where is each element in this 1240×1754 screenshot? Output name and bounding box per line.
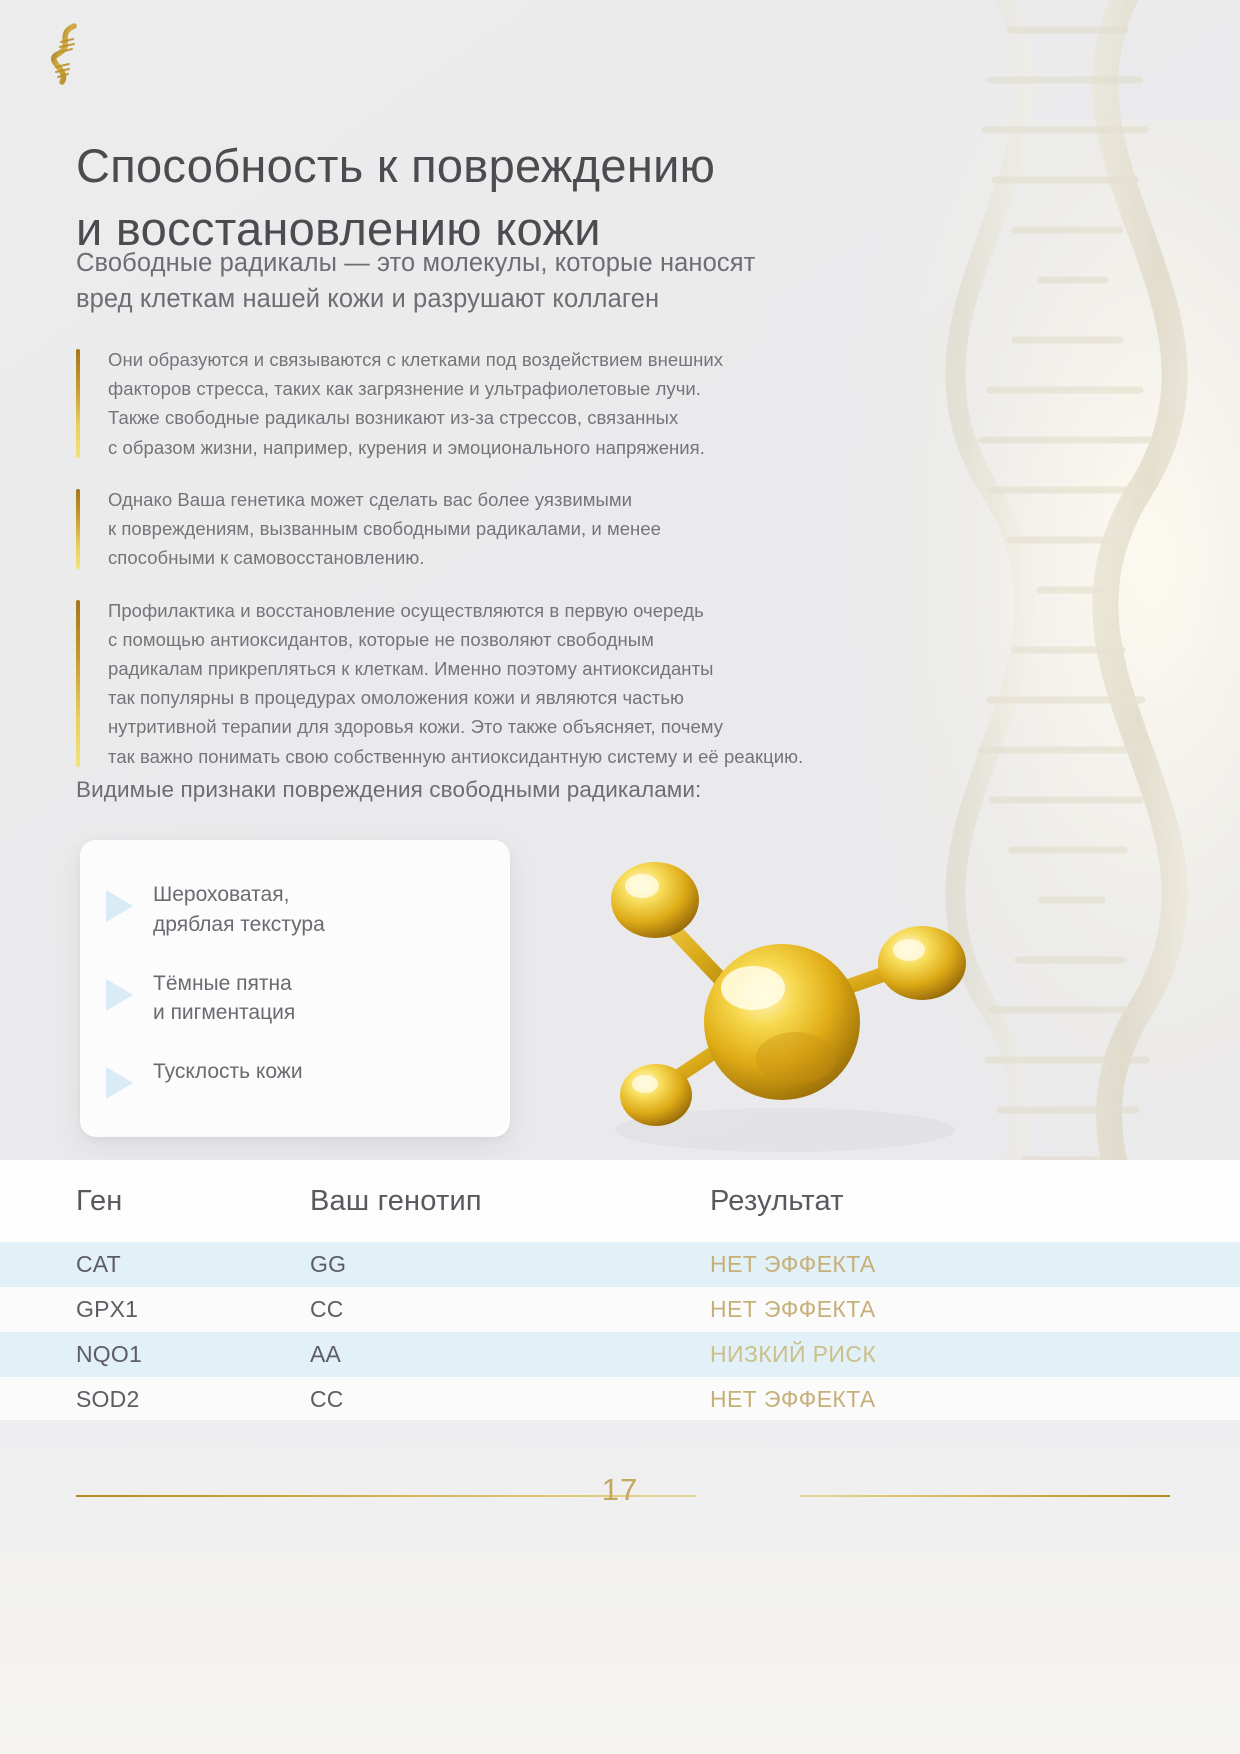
visible-signs-list: Шероховатая, дряблая текстура Тёмные пят… <box>106 878 490 1099</box>
info-block: Однако Ваша генетика может сделать вас б… <box>76 485 946 573</box>
page-subtitle: Свободные радикалы — это молекулы, котор… <box>76 245 956 317</box>
gold-molecule-illustration <box>560 830 1010 1160</box>
list-item-line: Тусклость кожи <box>153 1057 303 1087</box>
column-header-result: Результат <box>710 1185 1240 1218</box>
info-line: так популярны в процедурах омоложения ко… <box>108 683 946 712</box>
cell-result: НЕТ ЭФФЕКТА <box>710 1251 1240 1278</box>
genotype-results-table: Ген Ваш генотип Результат CAT GG НЕТ ЭФФ… <box>0 1160 1240 1422</box>
info-line: способными к самовосстановлению. <box>108 543 946 572</box>
info-block-text: Однако Ваша генетика может сделать вас б… <box>108 485 946 573</box>
dna-helix-icon <box>44 22 90 86</box>
list-item: Тёмные пятна и пигментация <box>106 967 490 1029</box>
footer <box>0 1420 1240 1754</box>
report-page: Способность к повреждению и восстановлен… <box>0 0 1240 1754</box>
triangle-arrow-icon <box>106 890 133 922</box>
gold-accent-bar <box>76 600 80 767</box>
page-subtitle-line-1: Свободные радикалы — это молекулы, котор… <box>76 245 956 281</box>
info-line: факторов стресса, таких как загрязнение … <box>108 374 946 403</box>
cell-result: НИЗКИЙ РИСК <box>710 1341 1240 1368</box>
cell-result: НЕТ ЭФФЕКТА <box>710 1296 1240 1323</box>
info-line: Также свободные радикалы возникают из-за… <box>108 403 946 432</box>
info-block-text: Они образуются и связываются с клетками … <box>108 345 946 462</box>
table-row: GPX1 CC НЕТ ЭФФЕКТА <box>0 1287 1240 1332</box>
triangle-arrow-icon <box>106 979 133 1011</box>
triangle-arrow-icon <box>106 1067 133 1099</box>
cell-genotype: AA <box>310 1341 710 1368</box>
info-block-text: Профилактика и восстановление осуществля… <box>108 596 946 771</box>
info-block: Они образуются и связываются с клетками … <box>76 345 946 462</box>
table-row: CAT GG НЕТ ЭФФЕКТА <box>0 1242 1240 1287</box>
info-line: к повреждениям, вызванным свободными рад… <box>108 514 946 543</box>
info-line: так важно понимать свою собственную анти… <box>108 742 946 771</box>
cell-gene: SOD2 <box>0 1386 310 1413</box>
list-item: Шероховатая, дряблая текстура <box>106 878 490 940</box>
table-row: NQO1 AA НИЗКИЙ РИСК <box>0 1332 1240 1377</box>
list-item-label: Шероховатая, дряблая текстура <box>153 878 325 940</box>
cell-gene: NQO1 <box>0 1341 310 1368</box>
column-header-genotype: Ваш генотип <box>310 1185 710 1218</box>
info-line: радикалам прикрепляться к клеткам. Именн… <box>108 654 946 683</box>
table-row: SOD2 CC НЕТ ЭФФЕКТА <box>0 1377 1240 1422</box>
list-item-line: и пигментация <box>153 998 295 1028</box>
info-line: Они образуются и связываются с клетками … <box>108 345 946 374</box>
column-header-gene: Ген <box>0 1185 310 1218</box>
page-title-line-1: Способность к повреждению <box>76 135 956 197</box>
table-header-row: Ген Ваш генотип Результат <box>0 1160 1240 1242</box>
visible-signs-card: Шероховатая, дряблая текстура Тёмные пят… <box>80 840 510 1137</box>
list-item-line: Шероховатая, <box>153 880 325 910</box>
list-item: Тусклость кожи <box>106 1055 490 1099</box>
info-line: нутритивной терапии для здоровья кожи. Э… <box>108 712 946 741</box>
page-subtitle-line-2: вред клеткам нашей кожи и разрушают колл… <box>76 281 956 317</box>
info-line: с образом жизни, например, курения и эмо… <box>108 433 946 462</box>
list-item-label: Тусклость кожи <box>153 1055 303 1087</box>
page-number: 17 <box>0 1472 1240 1508</box>
cell-genotype: CC <box>310 1296 710 1323</box>
cell-result: НЕТ ЭФФЕКТА <box>710 1386 1240 1413</box>
list-item-line: Тёмные пятна <box>153 969 295 999</box>
info-blocks: Они образуются и связываются с клетками … <box>76 345 946 771</box>
gold-accent-bar <box>76 489 80 569</box>
cell-gene: GPX1 <box>0 1296 310 1323</box>
info-block: Профилактика и восстановление осуществля… <box>76 596 946 771</box>
info-line: Однако Ваша генетика может сделать вас б… <box>108 485 946 514</box>
info-line: Профилактика и восстановление осуществля… <box>108 596 946 625</box>
cell-genotype: CC <box>310 1386 710 1413</box>
gold-accent-bar <box>76 349 80 458</box>
list-item-label: Тёмные пятна и пигментация <box>153 967 295 1029</box>
list-item-line: дряблая текстура <box>153 910 325 940</box>
cell-genotype: GG <box>310 1251 710 1278</box>
page-title: Способность к повреждению и восстановлен… <box>76 135 956 259</box>
info-line: с помощью антиоксидантов, которые не поз… <box>108 625 946 654</box>
visible-signs-heading: Видимые признаки повреждения свободными … <box>76 777 701 803</box>
cell-gene: CAT <box>0 1251 310 1278</box>
